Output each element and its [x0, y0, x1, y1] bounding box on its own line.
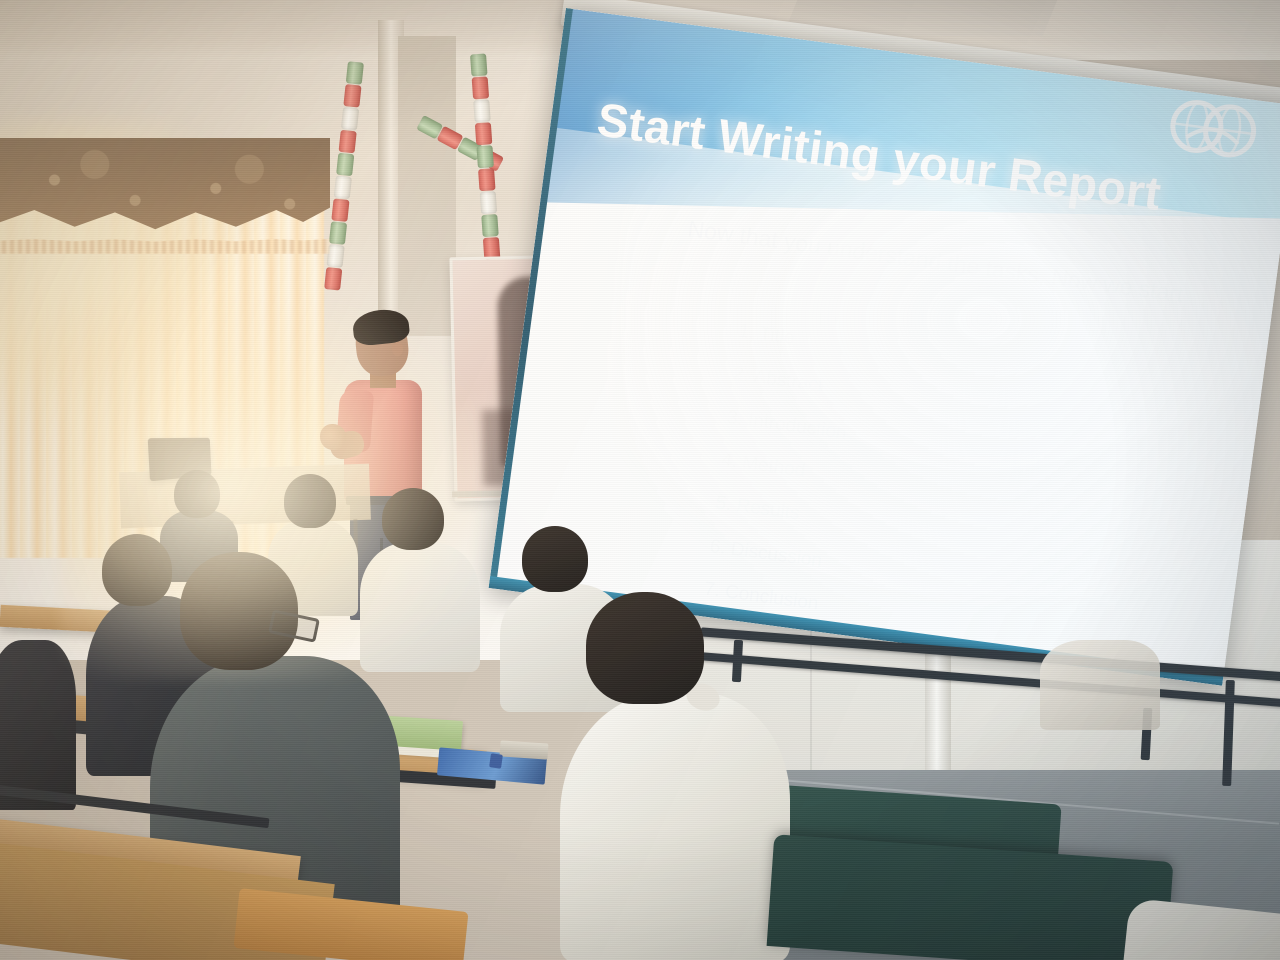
chair-back-front	[233, 888, 468, 960]
student-head	[522, 526, 588, 592]
classroom-photo: Start Writing your Report Now that you u…	[0, 0, 1280, 960]
presenter-ear	[392, 342, 403, 356]
pencil-case	[500, 740, 549, 759]
student-head	[174, 470, 220, 518]
student-head	[586, 592, 704, 704]
student-body	[560, 692, 790, 960]
student-body	[360, 542, 480, 672]
pen-cap	[489, 753, 503, 769]
student-body	[0, 640, 76, 810]
projector-screen: Start Writing your Report Now that you u…	[489, 8, 1280, 686]
presenter-hand	[320, 424, 346, 450]
slide-subtitle: Now that you understand the tasks, Now w…	[686, 212, 1245, 319]
globe-logo	[1162, 95, 1265, 169]
door-recess	[398, 36, 456, 336]
presentation-slide: Start Writing your Report Now that you u…	[489, 8, 1280, 686]
student-head	[284, 474, 336, 528]
student-head	[382, 488, 444, 550]
student-head	[102, 534, 172, 606]
student-body	[1040, 640, 1160, 730]
